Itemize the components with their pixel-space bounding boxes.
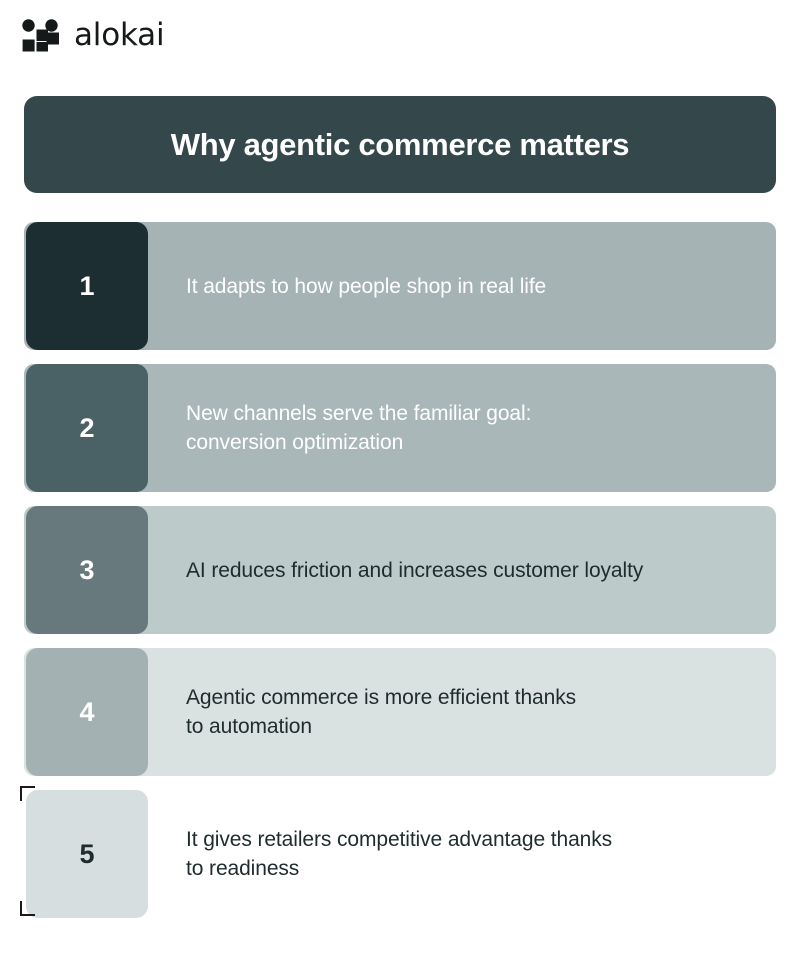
list-item-number-badge: 4 bbox=[26, 648, 148, 776]
header-banner: Why agentic commerce matters bbox=[24, 96, 776, 193]
list-item[interactable]: AI reduces friction and increases custom… bbox=[0, 506, 799, 634]
list-item-number: 3 bbox=[79, 555, 94, 586]
brand-name: alokai bbox=[74, 20, 164, 51]
list-item-label: Agentic commerce is more efficient thank… bbox=[186, 683, 576, 741]
list-item[interactable]: New channels serve the familiar goal: co… bbox=[0, 364, 799, 492]
list-item[interactable]: It adapts to how people shop in real lif… bbox=[0, 222, 799, 350]
reasons-list: It adapts to how people shop in real lif… bbox=[0, 222, 799, 932]
list-item[interactable]: Agentic commerce is more efficient thank… bbox=[0, 648, 799, 776]
list-item-label: It gives retailers competitive advantage… bbox=[186, 825, 612, 883]
page-title: Why agentic commerce matters bbox=[171, 127, 630, 163]
list-item-label: It adapts to how people shop in real lif… bbox=[186, 272, 546, 301]
list-item-number: 5 bbox=[79, 839, 94, 870]
list-item-label: AI reduces friction and increases custom… bbox=[186, 556, 643, 585]
list-item-number-badge: 1 bbox=[26, 222, 148, 350]
list-item-number: 2 bbox=[79, 413, 94, 444]
alokai-logo-mark-icon bbox=[22, 19, 60, 52]
list-item-number-badge: 3 bbox=[26, 506, 148, 634]
list-item-number: 4 bbox=[79, 697, 94, 728]
brand-logo: alokai bbox=[22, 14, 164, 56]
list-item-number: 1 bbox=[79, 271, 94, 302]
list-item-label: New channels serve the familiar goal: co… bbox=[186, 399, 531, 457]
list-item[interactable]: It gives retailers competitive advantage… bbox=[0, 790, 799, 918]
list-item-number-badge: 2 bbox=[26, 364, 148, 492]
list-item-number-badge: 5 bbox=[26, 790, 148, 918]
